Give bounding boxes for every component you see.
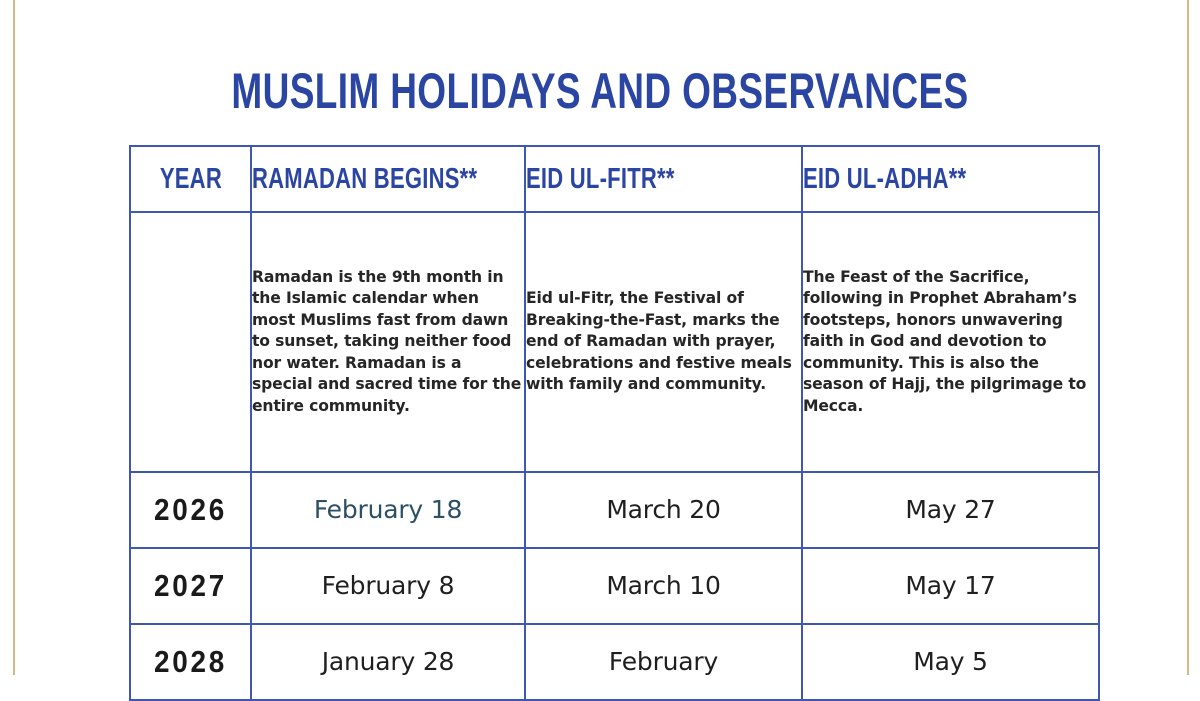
cell-eid-ul-adha: May 27 bbox=[802, 472, 1099, 548]
column-header-eid-ul-fitr: Eid ul-Fitr** bbox=[525, 146, 802, 212]
column-header-year: Year bbox=[130, 146, 251, 212]
cell-eid-ul-adha: May 5 bbox=[802, 624, 1099, 700]
description-text-ramadan: Ramadan is the 9th month in the Islamic … bbox=[252, 267, 524, 418]
column-header-year-label: Year bbox=[159, 163, 221, 195]
cell-eid-ul-fitr: March 10 bbox=[525, 548, 802, 624]
right-gold-rule bbox=[1187, 0, 1189, 675]
year-value: 2026 bbox=[154, 492, 227, 528]
description-cell-eid-ul-fitr: Eid ul-Fitr, the Festival of Breaking-th… bbox=[525, 212, 802, 472]
ramadan-date-value: February 18 bbox=[314, 495, 462, 524]
description-cell-eid-ul-adha: The Feast of the Sacrifice, following in… bbox=[802, 212, 1099, 472]
description-row: Ramadan is the 9th month in the Islamic … bbox=[130, 212, 1099, 472]
cell-ramadan: February 18 bbox=[251, 472, 525, 548]
cell-year: 2027 bbox=[130, 548, 251, 624]
left-gold-rule bbox=[13, 0, 15, 675]
cell-eid-ul-fitr: February bbox=[525, 624, 802, 700]
description-cell-year bbox=[130, 212, 251, 472]
eid-ul-adha-date-value: May 5 bbox=[913, 647, 988, 676]
cell-eid-ul-adha: May 17 bbox=[802, 548, 1099, 624]
cell-eid-ul-fitr: March 20 bbox=[525, 472, 802, 548]
cell-ramadan: January 28 bbox=[251, 624, 525, 700]
description-text-eid-ul-adha: The Feast of the Sacrifice, following in… bbox=[803, 267, 1098, 418]
column-header-eid-ul-adha-label: Eid ul-Adha** bbox=[803, 163, 966, 195]
ramadan-date-value: January 28 bbox=[322, 647, 455, 676]
description-text-eid-ul-fitr: Eid ul-Fitr, the Festival of Breaking-th… bbox=[526, 288, 801, 396]
holidays-table-container: Year Ramadan Begins** Eid ul-Fitr** Eid … bbox=[129, 145, 1098, 701]
eid-ul-adha-date-value: May 17 bbox=[905, 571, 995, 600]
description-cell-ramadan: Ramadan is the 9th month in the Islamic … bbox=[251, 212, 525, 472]
column-header-ramadan: Ramadan Begins** bbox=[251, 146, 525, 212]
table-row: 2028 January 28 February May 5 bbox=[130, 624, 1099, 700]
cell-year: 2028 bbox=[130, 624, 251, 700]
ramadan-date-value: February 8 bbox=[322, 571, 455, 600]
holidays-table: Year Ramadan Begins** Eid ul-Fitr** Eid … bbox=[129, 145, 1100, 701]
page-title: Muslim Holidays and Observances bbox=[156, 60, 1044, 122]
eid-ul-fitr-date-value: March 20 bbox=[606, 495, 720, 524]
eid-ul-fitr-date-value: March 10 bbox=[606, 571, 720, 600]
column-header-ramadan-label: Ramadan Begins** bbox=[252, 163, 477, 195]
cell-year: 2026 bbox=[130, 472, 251, 548]
column-header-eid-ul-adha: Eid ul-Adha** bbox=[802, 146, 1099, 212]
table-header-row: Year Ramadan Begins** Eid ul-Fitr** Eid … bbox=[130, 146, 1099, 212]
eid-ul-fitr-date-value: February bbox=[609, 647, 718, 676]
eid-ul-adha-date-value: May 27 bbox=[905, 495, 995, 524]
cell-ramadan: February 8 bbox=[251, 548, 525, 624]
column-header-eid-ul-fitr-label: Eid ul-Fitr** bbox=[526, 163, 675, 195]
year-value: 2027 bbox=[154, 568, 227, 604]
table-row: 2026 February 18 March 20 May 27 bbox=[130, 472, 1099, 548]
table-row: 2027 February 8 March 10 May 17 bbox=[130, 548, 1099, 624]
